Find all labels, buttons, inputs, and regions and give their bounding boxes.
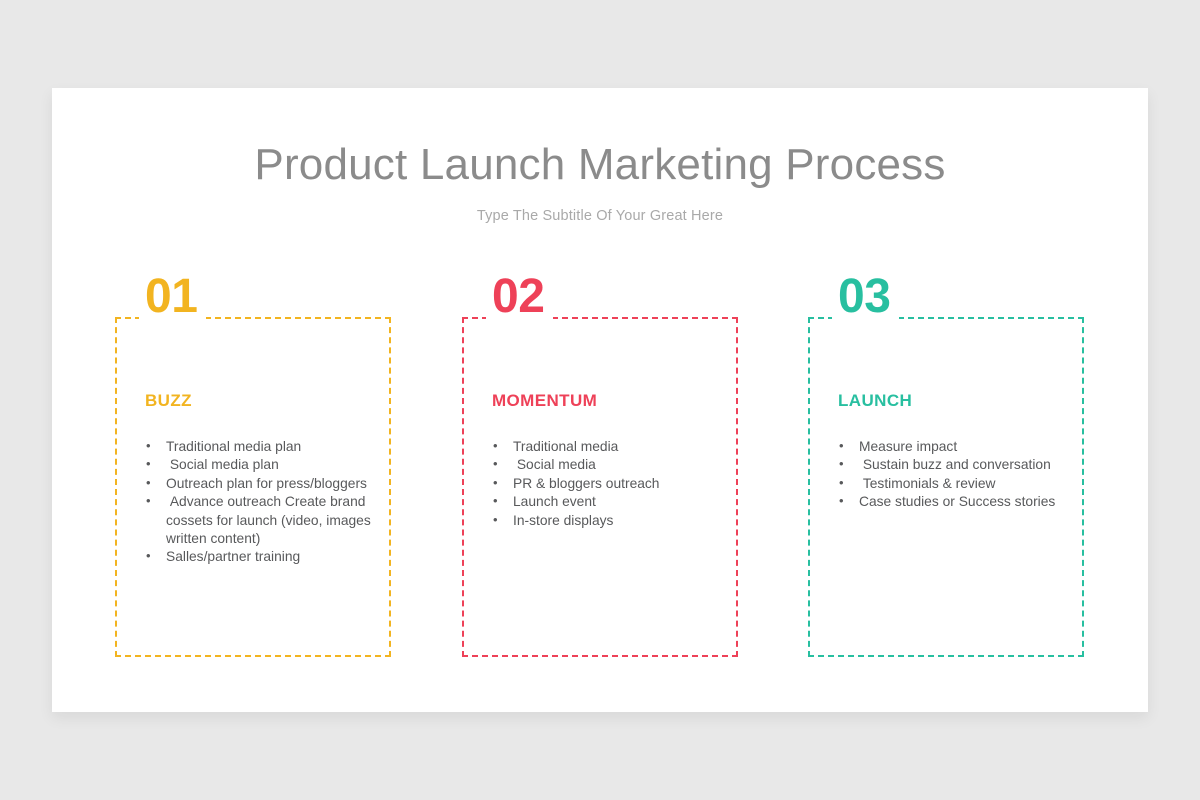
- step-list-01: Traditional media plan Social media plan…: [138, 438, 380, 567]
- list-item: Case studies or Success stories: [831, 493, 1073, 511]
- step-number-01: 01: [139, 273, 206, 323]
- list-item: PR & bloggers outreach: [485, 475, 727, 493]
- step-column-01[interactable]: 01 BUZZ Traditional media plan Social me…: [115, 317, 391, 657]
- list-item: Testimonials & review: [831, 475, 1073, 493]
- step-heading-01: BUZZ: [145, 391, 192, 411]
- slide-canvas: Product Launch Marketing Process Type Th…: [0, 0, 1200, 800]
- list-item: Traditional media: [485, 438, 727, 456]
- list-item: Measure impact: [831, 438, 1073, 456]
- list-item: Sustain buzz and conversation: [831, 456, 1073, 474]
- list-item: Traditional media plan: [138, 438, 380, 456]
- list-item: Launch event: [485, 493, 727, 511]
- list-item: Social media plan: [138, 456, 380, 474]
- list-item: Advance outreach Create brand cossets fo…: [138, 493, 380, 548]
- list-item: Outreach plan for press/bloggers: [138, 475, 380, 493]
- step-heading-03: LAUNCH: [838, 391, 912, 411]
- slide-card: Product Launch Marketing Process Type Th…: [52, 88, 1148, 712]
- step-number-03: 03: [832, 273, 899, 323]
- list-item: Salles/partner training: [138, 548, 380, 566]
- step-list-03: Measure impact Sustain buzz and conversa…: [831, 438, 1073, 512]
- step-column-03[interactable]: 03 LAUNCH Measure impact Sustain buzz an…: [808, 317, 1084, 657]
- step-column-02[interactable]: 02 MOMENTUM Traditional media Social med…: [462, 317, 738, 657]
- step-heading-02: MOMENTUM: [492, 391, 597, 411]
- list-item: In-store displays: [485, 512, 727, 530]
- step-number-02: 02: [486, 273, 553, 323]
- list-item: Social media: [485, 456, 727, 474]
- steps-row: 01 BUZZ Traditional media plan Social me…: [52, 88, 1148, 712]
- step-list-02: Traditional media Social media PR & blog…: [485, 438, 727, 530]
